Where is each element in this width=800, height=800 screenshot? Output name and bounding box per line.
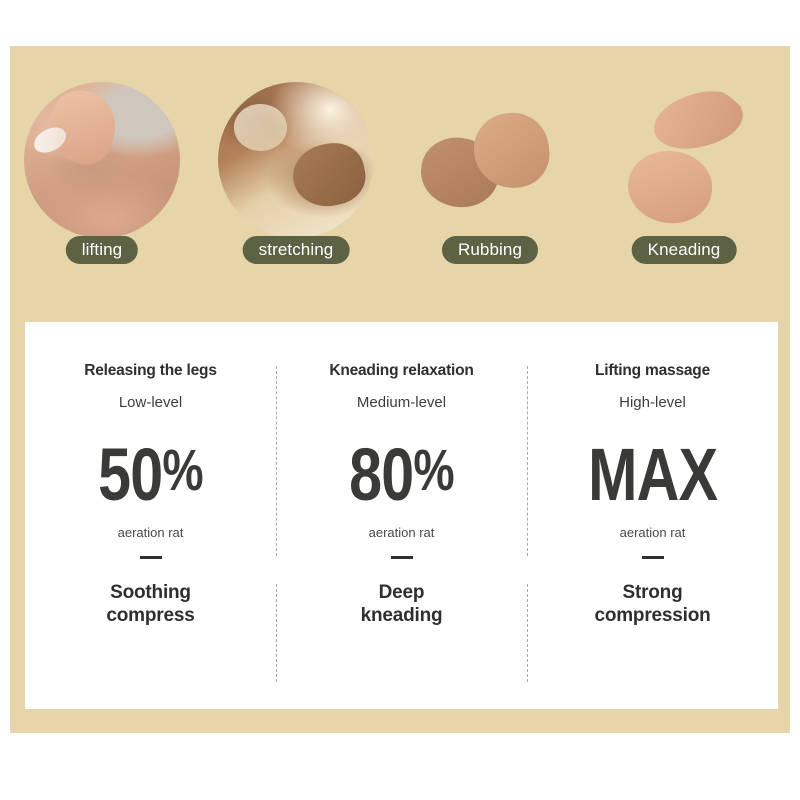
technique-item-stretching[interactable]: stretching xyxy=(216,76,376,266)
intensity-dash-low xyxy=(140,556,162,559)
technique-label-stretching: stretching xyxy=(243,236,350,264)
stat-value-high: MAX xyxy=(588,433,717,516)
caption-line1-low: Soothing xyxy=(110,582,191,603)
intensity-title-medium: Kneading relaxation xyxy=(329,362,473,380)
intensity-unit-medium: aeration rat xyxy=(369,525,435,540)
intensity-title-low: Releasing the legs xyxy=(84,362,217,380)
stat-suffix-medium: % xyxy=(413,444,453,497)
caption-line2-low: compress xyxy=(106,605,194,626)
intensity-caption-high: Strongcompression xyxy=(594,581,710,627)
technique-photo-rubbing xyxy=(412,82,568,238)
intensity-level-low: Low-level xyxy=(119,394,182,411)
stat-suffix-low: % xyxy=(162,444,202,497)
technique-item-kneading[interactable]: Kneading xyxy=(604,76,764,266)
intensity-column-medium: Kneading relaxation Medium-level 80% aer… xyxy=(276,322,527,709)
technique-label-kneading: Kneading xyxy=(632,236,737,264)
intensity-level-medium: Medium-level xyxy=(357,394,446,411)
intensity-stat-high: MAX xyxy=(588,441,717,509)
technique-gallery: lifting stretching Rubbing Kneading xyxy=(10,76,790,266)
intensity-stat-low: 50% xyxy=(98,441,203,509)
technique-label-lifting: lifting xyxy=(66,236,138,264)
intensity-column-high: Lifting massage High-level MAX aeration … xyxy=(527,322,778,709)
intensity-unit-high: aeration rat xyxy=(620,525,686,540)
infographic-stage: lifting stretching Rubbing Kneading xyxy=(0,0,800,800)
intensity-dash-high xyxy=(642,556,664,559)
intensity-title-high: Lifting massage xyxy=(595,362,710,380)
caption-line2-medium: kneading xyxy=(361,605,443,626)
stat-value-medium: 80 xyxy=(349,433,413,516)
technique-photo-lifting xyxy=(24,82,180,238)
intensity-card: Releasing the legs Low-level 50% aeratio… xyxy=(25,322,778,709)
technique-photo-kneading xyxy=(606,82,762,238)
intensity-level-high: High-level xyxy=(619,394,686,411)
caption-line1-high: Strong xyxy=(622,582,682,603)
intensity-column-low: Releasing the legs Low-level 50% aeratio… xyxy=(25,322,276,709)
intensity-caption-medium: Deepkneading xyxy=(361,581,443,627)
intensity-caption-low: Soothingcompress xyxy=(106,581,194,627)
caption-line1-medium: Deep xyxy=(379,582,425,603)
technique-item-lifting[interactable]: lifting xyxy=(22,76,182,266)
caption-line2-high: compression xyxy=(594,605,710,626)
stat-value-low: 50 xyxy=(98,433,162,516)
intensity-unit-low: aeration rat xyxy=(118,525,184,540)
intensity-dash-medium xyxy=(391,556,413,559)
technique-label-rubbing: Rubbing xyxy=(442,236,538,264)
intensity-stat-medium: 80% xyxy=(349,441,454,509)
technique-item-rubbing[interactable]: Rubbing xyxy=(410,76,570,266)
technique-photo-stretching xyxy=(218,82,374,238)
